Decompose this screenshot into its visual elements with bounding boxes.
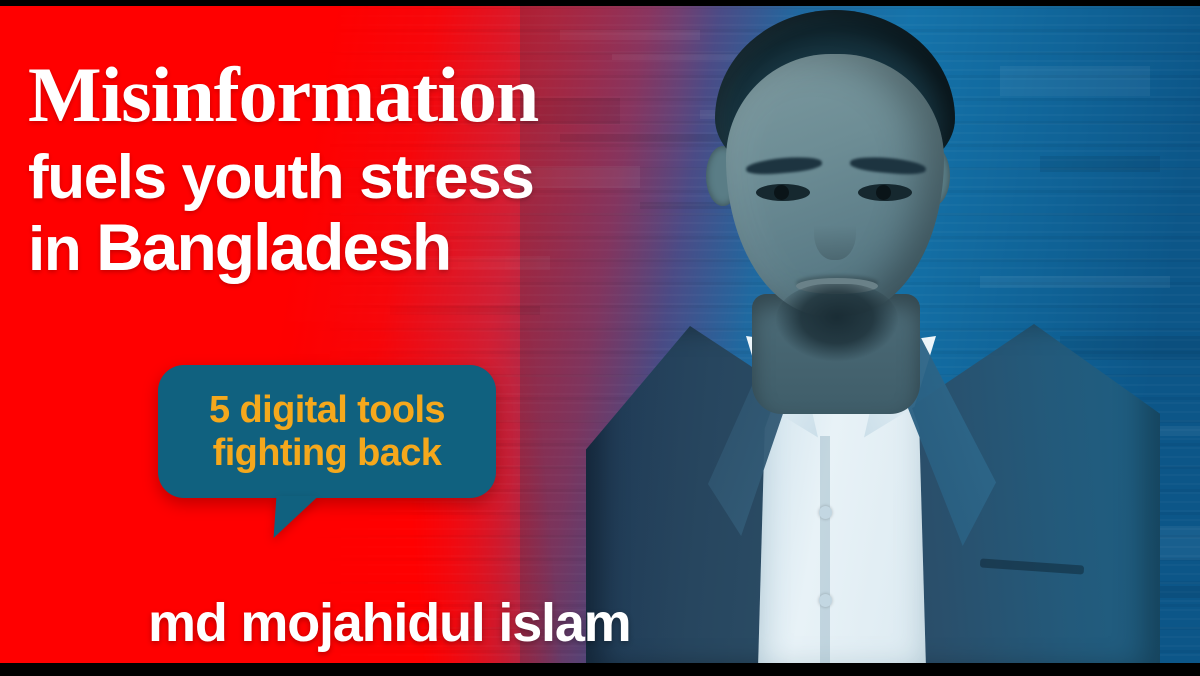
headline-block: Misinformation fuels youth stress in Ban… — [28, 58, 668, 283]
callout-line-1: 5 digital tools — [209, 389, 445, 432]
headline-line-2: fuels youth stress — [28, 145, 668, 211]
top-frame-bar — [0, 0, 1200, 6]
poster-canvas: Misinformation fuels youth stress in Ban… — [0, 0, 1200, 676]
bottom-frame-bar — [0, 663, 1200, 676]
pupil-left — [774, 185, 789, 200]
shirt-button — [819, 506, 832, 519]
nose — [814, 202, 856, 260]
beard — [776, 284, 898, 368]
callout-bubble-tail — [274, 496, 319, 538]
face — [726, 54, 944, 316]
callout-bubble[interactable]: 5 digital tools fighting back — [158, 365, 496, 498]
headline-line-3-prefix: in — [28, 215, 96, 284]
headline-line-3-emphasis: Bangladesh — [96, 210, 450, 284]
headline-line-1: Misinformation — [28, 58, 668, 133]
headline-line-3: in Bangladesh — [28, 213, 668, 283]
shirt-placket — [820, 436, 830, 663]
shirt-button — [819, 594, 832, 607]
callout-bubble-body[interactable]: 5 digital tools fighting back — [158, 365, 496, 498]
pupil-right — [876, 185, 891, 200]
byline-author-name: md mojahidul islam — [148, 596, 631, 650]
callout-line-2: fighting back — [213, 432, 442, 475]
